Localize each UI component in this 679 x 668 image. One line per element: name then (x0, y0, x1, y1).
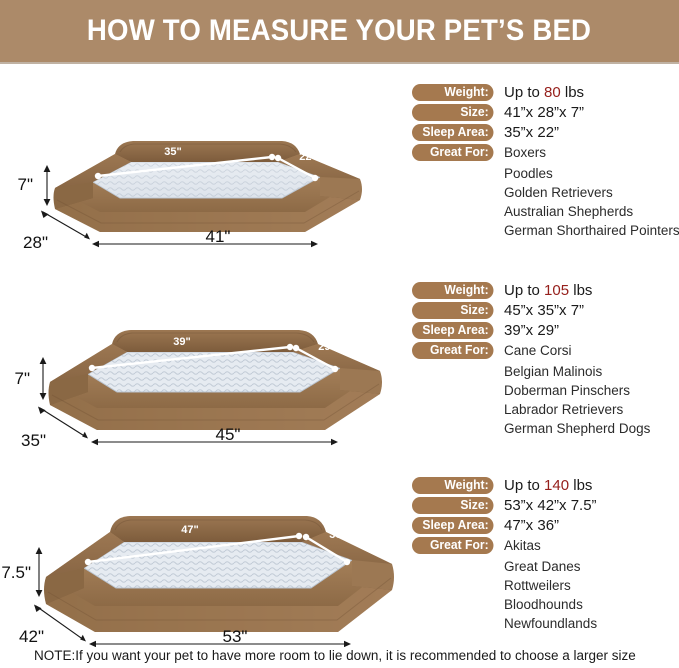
breed-item: Australian Shepherds (504, 202, 679, 221)
size-row-xlarge: 39" 29" 7" 35" 45" Weight: Up to 105 lbs… (0, 262, 679, 447)
sleep-depth-label: 22" (299, 151, 316, 163)
size-label: Size: (412, 104, 493, 121)
sleep-area-label: Sleep Area: (412, 517, 493, 534)
bed-diagram-svg: 35" 22" 7" 28" 41" (0, 72, 410, 257)
size-row-jumbo: 47" 36" 7.5" 42" 53" Weight: Up to 140 l… (0, 452, 679, 647)
depth-label: 35" (21, 431, 46, 447)
page-header: HOW TO MEASURE YOUR PET’S BED (0, 0, 679, 62)
breed-item: Bloodhounds (504, 595, 679, 614)
sleep-area-value: 35”x 22” (504, 124, 559, 142)
bed-diagram-svg: 39" 29" 7" 35" 45" (0, 262, 410, 447)
sleep-depth-label: 36" (329, 529, 346, 541)
depth-label: 42" (19, 627, 44, 646)
sleep-area-value: 39”x 29” (504, 322, 559, 340)
sleep-depth-label: 29" (318, 341, 335, 353)
bed-illustration-xlarge: 39" 29" 7" 35" 45" (0, 262, 410, 447)
height-label: 7.5" (1, 563, 31, 582)
depth-label: 28" (23, 233, 48, 252)
bed-diagram-svg: 47" 36" 7.5" 42" 53" (0, 452, 410, 647)
spec-panel-large: Weight: Up to 80 lbs Size: 41”x 28”x 7” … (412, 84, 679, 240)
breed-item: Cane Corsi (504, 342, 572, 359)
weight-label: Weight: (412, 282, 493, 299)
great-for-label: Great For: (412, 537, 493, 554)
spec-panel-xlarge: Weight: Up to 105 lbs Size: 45”x 35”x 7”… (412, 282, 679, 438)
spec-size: Size: 41”x 28”x 7” (412, 104, 679, 124)
spec-sleep-area: Sleep Area: 39”x 29” (412, 322, 679, 342)
breed-item: Poodles (504, 164, 679, 183)
height-label: 7" (15, 369, 31, 388)
sleep-area-label: Sleep Area: (412, 124, 493, 141)
spec-great-for: Great For: Akitas (412, 537, 679, 557)
breed-item: Rottweilers (504, 576, 679, 595)
header-divider (0, 62, 679, 64)
weight-value: Up to 105 lbs (504, 282, 592, 300)
sleep-width-label: 39" (173, 336, 190, 348)
spec-great-for: Great For: Cane Corsi (412, 342, 679, 362)
page-title: HOW TO MEASURE YOUR PET’S BED (87, 14, 591, 48)
breed-item: Doberman Pinschers (504, 381, 679, 400)
weight-label: Weight: (412, 477, 493, 494)
size-label: Size: (412, 497, 493, 514)
breed-item: Boxers (504, 144, 546, 161)
size-value: 53”x 42”x 7.5” (504, 497, 597, 515)
spec-size: Size: 45”x 35”x 7” (412, 302, 679, 322)
bed-illustration-large: 35" 22" 7" 28" 41" (0, 72, 410, 257)
breed-item: Newfoundlands (504, 614, 679, 633)
weight-value: Up to 140 lbs (504, 477, 592, 495)
spec-sleep-area: Sleep Area: 35”x 22” (412, 124, 679, 144)
bed-illustration-jumbo: 47" 36" 7.5" 42" 53" (0, 452, 410, 647)
size-value: 45”x 35”x 7” (504, 302, 584, 320)
length-label: 53" (223, 627, 248, 646)
height-label: 7" (18, 175, 34, 194)
size-row-large: 35" 22" 7" 28" 41" Weight: Up t (0, 72, 679, 257)
weight-number: 140 (544, 477, 569, 494)
weight-number: 80 (544, 84, 561, 101)
size-value: 41”x 28”x 7” (504, 104, 584, 122)
great-for-label: Great For: (412, 144, 493, 161)
spec-sleep-area: Sleep Area: 47”x 36” (412, 517, 679, 537)
spec-weight: Weight: Up to 105 lbs (412, 282, 679, 302)
breed-item: German Shepherd Dogs (504, 419, 679, 438)
breed-item: German Shorthaired Pointers (504, 221, 679, 240)
spec-panel-jumbo: Weight: Up to 140 lbs Size: 53”x 42”x 7.… (412, 477, 679, 633)
weight-value: Up to 80 lbs (504, 84, 584, 102)
footer-note: NOTE:If you want your pet to have more r… (34, 648, 636, 663)
breed-item: Labrador Retrievers (504, 400, 679, 419)
breed-item: Great Danes (504, 557, 679, 576)
length-label: 41" (206, 227, 231, 246)
great-for-label: Great For: (412, 342, 493, 359)
sleep-area-label: Sleep Area: (412, 322, 493, 339)
sleep-area-value: 47”x 36” (504, 517, 559, 535)
weight-label: Weight: (412, 84, 493, 101)
breed-item: Golden Retrievers (504, 183, 679, 202)
spec-weight: Weight: Up to 140 lbs (412, 477, 679, 497)
spec-size: Size: 53”x 42”x 7.5” (412, 497, 679, 517)
sleep-width-label: 47" (181, 524, 198, 536)
breed-item: Akitas (504, 537, 541, 554)
weight-number: 105 (544, 282, 569, 299)
sleep-width-label: 35" (164, 146, 181, 158)
size-label: Size: (412, 302, 493, 319)
spec-great-for: Great For: Boxers (412, 144, 679, 164)
length-label: 45" (216, 425, 241, 444)
spec-weight: Weight: Up to 80 lbs (412, 84, 679, 104)
breed-item: Belgian Malinois (504, 362, 679, 381)
